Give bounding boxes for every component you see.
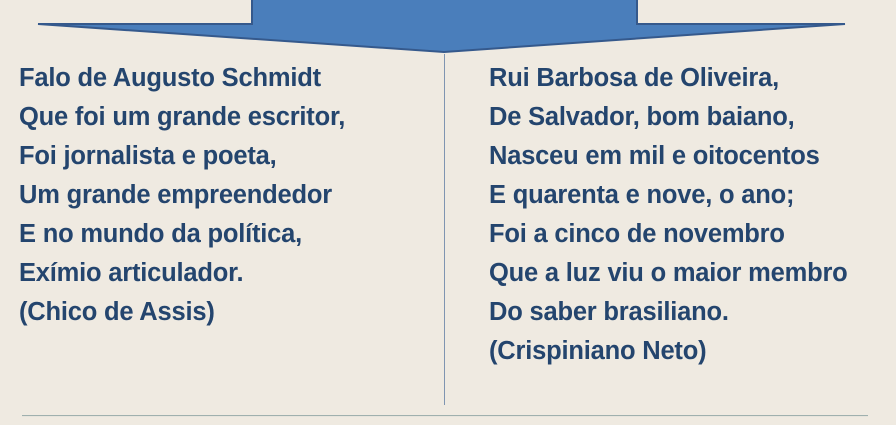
verse-line: De Salvador, bom baiano, bbox=[489, 98, 889, 137]
down-arrow-banner bbox=[0, 0, 896, 58]
verse-line: Foi a cinco de novembro bbox=[489, 215, 889, 254]
verse-column-left: Falo de Augusto Schmidt Que foi um grand… bbox=[19, 59, 434, 332]
verse-line: Foi jornalista e poeta, bbox=[19, 137, 434, 176]
column-divider bbox=[444, 54, 445, 405]
verse-line: Um grande empreendedor bbox=[19, 176, 434, 215]
verse-attribution: (Crispiniano Neto) bbox=[489, 332, 889, 371]
verse-line: Falo de Augusto Schmidt bbox=[19, 59, 434, 98]
down-arrow-shape bbox=[38, 0, 845, 52]
verse-attribution: (Chico de Assis) bbox=[19, 293, 434, 332]
verse-line: E no mundo da política, bbox=[19, 215, 434, 254]
verse-line: Do saber brasiliano. bbox=[489, 293, 889, 332]
verse-line: E quarenta e nove, o ano; bbox=[489, 176, 889, 215]
verse-line: Que a luz viu o maior membro bbox=[489, 254, 889, 293]
verse-line: Rui Barbosa de Oliveira, bbox=[489, 59, 889, 98]
slide-canvas: Falo de Augusto Schmidt Que foi um grand… bbox=[0, 0, 896, 425]
verse-line: Exímio articulador. bbox=[19, 254, 434, 293]
verse-line: Que foi um grande escritor, bbox=[19, 98, 434, 137]
verse-line: Nasceu em mil e oitocentos bbox=[489, 137, 889, 176]
bottom-divider-rule bbox=[22, 415, 868, 417]
verse-column-right: Rui Barbosa de Oliveira, De Salvador, bo… bbox=[489, 59, 889, 371]
